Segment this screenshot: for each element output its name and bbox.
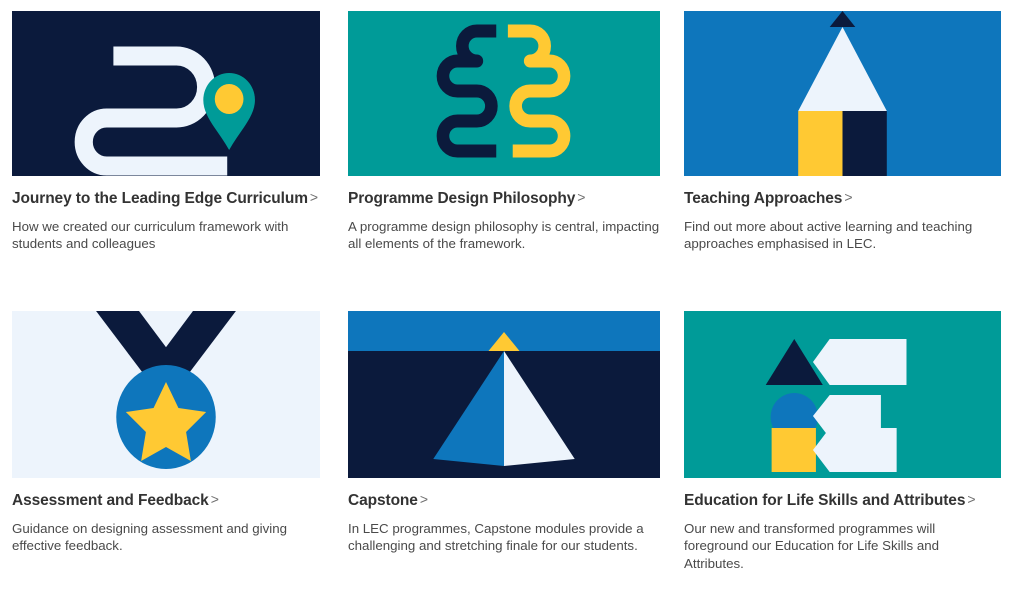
card-journey-to-the-leading-edge-curriculum[interactable]: Journey to the Leading Edge Curriculum> … xyxy=(0,11,338,304)
pin-dot xyxy=(215,84,244,114)
thumbnail-pencil-illustration[interactable] xyxy=(684,11,1001,176)
card-title[interactable]: Capstone> xyxy=(348,478,660,512)
chevron-right-icon: > xyxy=(575,188,585,207)
card-title-text: Education for Life Skills and Attributes xyxy=(684,492,965,509)
banner-1 xyxy=(813,339,907,385)
card-capstone[interactable]: Capstone> In LEC programmes, Capstone mo… xyxy=(338,304,676,597)
yellow-square xyxy=(772,428,816,472)
chevron-right-icon: > xyxy=(209,490,219,509)
card-grid: Journey to the Leading Edge Curriculum> … xyxy=(0,0,1024,597)
illustration-background xyxy=(12,11,320,176)
card-description: Guidance on designing assessment and giv… xyxy=(12,512,320,555)
chevron-right-icon: > xyxy=(418,490,428,509)
card-title-text: Assessment and Feedback xyxy=(12,492,209,509)
card-description: Our new and transformed programmes will … xyxy=(684,512,1001,573)
chevron-right-icon: > xyxy=(308,188,318,207)
pencil-body-navy xyxy=(843,111,887,176)
card-title-text: Journey to the Leading Edge Curriculum xyxy=(12,190,308,207)
thumbnail-pyramid-with-capstone-illustration[interactable] xyxy=(348,311,660,478)
card-title-text: Teaching Approaches xyxy=(684,190,842,207)
card-programme-design-philosophy[interactable]: Programme Design Philosophy> A programme… xyxy=(338,11,676,304)
card-assessment-and-feedback[interactable]: Assessment and Feedback> Guidance on des… xyxy=(0,304,338,597)
thumbnail-winding-road-with-map-pin-illustration[interactable] xyxy=(12,11,320,176)
chevron-right-icon: > xyxy=(842,188,852,207)
card-title[interactable]: Teaching Approaches> xyxy=(684,176,1001,210)
card-title[interactable]: Assessment and Feedback> xyxy=(12,478,320,512)
card-description: How we created our curriculum framework … xyxy=(12,210,320,253)
thumbnail-medal-with-star-illustration[interactable] xyxy=(12,311,320,478)
card-description: A programme design philosophy is central… xyxy=(348,210,660,253)
card-description: In LEC programmes, Capstone modules prov… xyxy=(348,512,660,555)
card-title[interactable]: Programme Design Philosophy> xyxy=(348,176,660,210)
banner-3 xyxy=(813,428,897,472)
illustration-background xyxy=(348,11,660,176)
thumbnail-serpentine-squiggles-illustration[interactable] xyxy=(348,11,660,176)
card-title[interactable]: Education for Life Skills and Attributes… xyxy=(684,478,1001,512)
chevron-right-icon: > xyxy=(965,490,975,509)
card-education-for-life-skills-and-attributes[interactable]: Education for Life Skills and Attributes… xyxy=(676,304,1017,597)
card-teaching-approaches[interactable]: Teaching Approaches> Find out more about… xyxy=(676,11,1017,304)
pencil-body-yellow xyxy=(798,111,842,176)
card-title-text: Programme Design Philosophy xyxy=(348,190,575,207)
card-title[interactable]: Journey to the Leading Edge Curriculum> xyxy=(12,176,320,210)
card-description: Find out more about active learning and … xyxy=(684,210,1001,253)
thumbnail-shapes-and-banners-illustration[interactable] xyxy=(684,311,1001,478)
card-title-text: Capstone xyxy=(348,492,418,509)
